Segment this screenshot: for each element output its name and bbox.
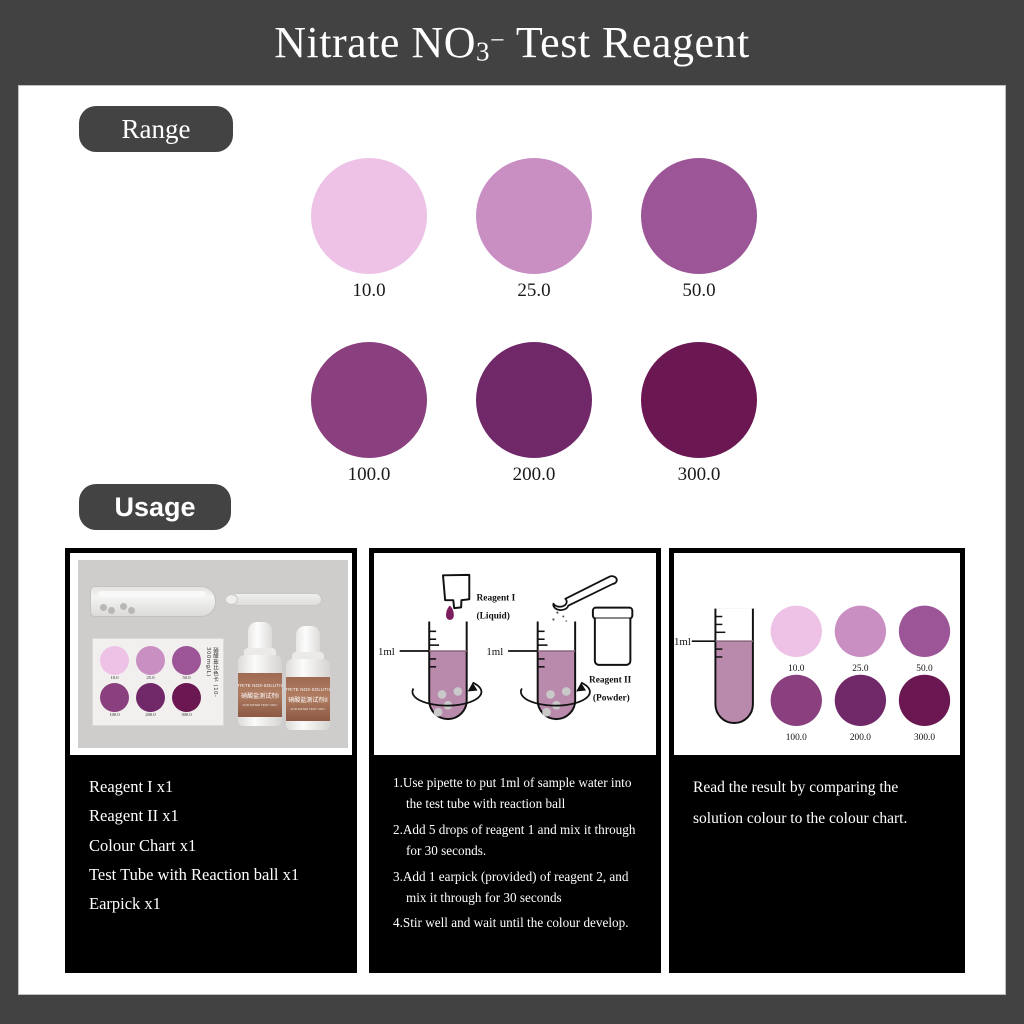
- bottle-label: NITRITE NO3-SOLUTION 硝酸盐测试剂II FOR WATER …: [286, 677, 330, 721]
- list-item: Test Tube with Reaction ball x1: [89, 860, 339, 889]
- title-bar: Nitrate NO3− Test Reagent: [0, 0, 1024, 85]
- reference-swatch-dot: [771, 675, 822, 726]
- card-swatch: 100.0: [99, 683, 130, 717]
- colour-swatch-label: 200.0: [513, 464, 556, 486]
- reading-diagram: 1ml 10.0 25.0 50.0: [674, 553, 960, 755]
- earpick-spoon-icon: [553, 576, 616, 610]
- reaction-ball: [100, 604, 107, 611]
- reagent-drop-icon: [446, 606, 454, 620]
- page-title-prefix: Nitrate NO: [274, 18, 476, 67]
- card-swatch-dot: [136, 646, 165, 675]
- card-swatch-dot: [100, 683, 129, 712]
- card-swatch-label: 300.0: [171, 712, 202, 717]
- reading-instruction: Read the result by comparing the solutio…: [671, 758, 963, 844]
- reaction-ball: [562, 687, 571, 696]
- poster-root: Nitrate NO3− Test Reagent Range 10.0 25.…: [0, 0, 1024, 1024]
- colour-swatch-dot: [311, 158, 427, 274]
- instruction-line: solution colour to the colour chart.: [693, 803, 947, 834]
- colour-swatch-label: 10.0: [352, 280, 385, 302]
- list-item: Reagent I x1: [89, 772, 339, 801]
- card-swatch-label: 25.0: [135, 675, 166, 680]
- colour-swatch-label: 300.0: [678, 464, 721, 486]
- reagent-2-name: Reagent II: [589, 676, 632, 686]
- reaction-ball: [108, 607, 115, 614]
- bottle-label-fineprint: FOR WATER TEST ONLY: [291, 707, 326, 711]
- reference-swatch-label: 200.0: [850, 733, 871, 743]
- bottle-label-fineprint: FOR WATER TEST ONLY: [243, 703, 278, 707]
- colour-swatch-dot: [641, 342, 757, 458]
- range-section-badge: Range: [79, 106, 233, 152]
- reference-swatch-dot: [899, 606, 950, 657]
- colour-chart-row-1: 10.0 25.0 50.0: [309, 158, 759, 302]
- usage-badge-label: Usage: [114, 494, 195, 521]
- reference-swatch-dot: [899, 675, 950, 726]
- volume-mark: 1ml: [674, 636, 691, 648]
- list-item: 4.Stir well and wait until the colour de…: [393, 912, 643, 933]
- range-badge-label: Range: [122, 116, 191, 143]
- page-title-superscript: −: [490, 26, 505, 55]
- bottle-label-chinese: 硝酸盐测试剂I: [241, 691, 279, 700]
- list-item: 2.Add 5 drops of reagent 1 and mix it th…: [393, 819, 643, 862]
- colour-swatch-label: 50.0: [682, 280, 715, 302]
- page-title-suffix: Test Reagent: [505, 18, 750, 67]
- card-swatch-grid: 10.0 25.0 50.0: [99, 646, 203, 717]
- colour-swatch-dot: [311, 342, 427, 458]
- card-swatch-dot: [172, 683, 201, 712]
- test-tube-sample: 1ml: [674, 609, 753, 723]
- earpick-spoon-head: [225, 594, 238, 605]
- reaction-ball: [120, 603, 127, 610]
- card-swatch-dot: [100, 646, 129, 675]
- reagent-1-name: Reagent I: [477, 594, 516, 604]
- bottle-label: NITRITE NO3-SOLUTION 硝酸盐测试剂I FOR WATER T…: [238, 673, 282, 717]
- card-swatch-dot: [172, 646, 201, 675]
- colour-chart-row-2: 100.0 200.0 300.0: [309, 342, 759, 486]
- bottle-label-english: NITRITE NO3-SOLUTION: [238, 683, 282, 688]
- earpick-photo: [230, 593, 322, 606]
- content-sheet: Range 10.0 25.0 50.0: [18, 85, 1006, 995]
- procedure-diagram-frame: Reagent I (Liquid): [371, 550, 659, 758]
- card-swatch-label: 50.0: [171, 675, 202, 680]
- reference-swatch-label: 100.0: [786, 733, 807, 743]
- colour-swatch: 50.0: [639, 158, 759, 302]
- reference-swatch-label: 10.0: [788, 664, 805, 674]
- bottle-body: NITRITE NO3-SOLUTION 硝酸盐测试剂I FOR WATER T…: [238, 655, 282, 726]
- colour-swatch-label: 25.0: [517, 280, 550, 302]
- reference-swatch: 200.0: [835, 675, 886, 743]
- instruction-line: Read the result by comparing the: [693, 772, 947, 803]
- card-caption-chinese: 硝酸盐比色卡 (10-300mg/L): [205, 647, 219, 725]
- bottle-body: NITRITE NO3-SOLUTION 硝酸盐测试剂II FOR WATER …: [286, 659, 330, 730]
- procedure-diagram: Reagent I (Liquid): [374, 553, 656, 755]
- colour-swatch: 25.0: [474, 158, 594, 302]
- page-title-subscript: 3: [476, 37, 490, 67]
- reaction-ball: [542, 708, 551, 717]
- kit-contents-list: Reagent I x1 Reagent II x1 Colour Chart …: [67, 758, 355, 929]
- dropper-bottle-icon: [439, 569, 476, 611]
- reading-diagram-frame: 1ml 10.0 25.0 50.0: [671, 550, 963, 758]
- procedure-steps: 1.Use pipette to put 1ml of sample water…: [371, 758, 659, 948]
- colour-chart: 10.0 25.0 50.0 100.0 200.0: [309, 158, 759, 486]
- test-tube-left: 1ml: [378, 621, 482, 719]
- page-title: Nitrate NO3− Test Reagent: [274, 17, 749, 68]
- card-swatch-label: 10.0: [99, 675, 130, 680]
- colour-swatch-dot: [476, 158, 592, 274]
- volume-mark-right: 1ml: [486, 646, 503, 658]
- panel-procedure: Reagent I (Liquid): [369, 548, 661, 973]
- reagent-bottle-1: NITRITE NO3-SOLUTION 硝酸盐测试剂I FOR WATER T…: [238, 622, 282, 726]
- reference-swatch-dot: [835, 675, 886, 726]
- reagent-1-type: (Liquid): [477, 611, 510, 622]
- reaction-ball: [128, 607, 135, 614]
- panel-reading-result: 1ml 10.0 25.0 50.0: [669, 548, 965, 973]
- colour-swatch-label: 100.0: [348, 464, 391, 486]
- list-item: Reagent II x1: [89, 801, 339, 830]
- card-swatch-dot: [136, 683, 165, 712]
- reference-swatch: 100.0: [771, 675, 822, 743]
- colour-swatch: 300.0: [639, 342, 759, 486]
- card-swatch: 10.0: [99, 646, 130, 680]
- card-swatch: 25.0: [135, 646, 166, 680]
- reference-swatch-dot: [771, 606, 822, 657]
- bottle-label-english: NITRITE NO3-SOLUTION: [286, 687, 330, 692]
- reference-swatch-label: 25.0: [852, 664, 869, 674]
- colour-swatch-dot: [476, 342, 592, 458]
- reference-swatch: 50.0: [899, 606, 950, 674]
- reagent-bottle-2: NITRITE NO3-SOLUTION 硝酸盐测试剂II FOR WATER …: [286, 626, 330, 730]
- card-swatch-label: 100.0: [99, 712, 130, 717]
- volume-mark-left: 1ml: [378, 646, 395, 658]
- reaction-ball: [453, 687, 462, 696]
- reference-swatch-label: 50.0: [916, 664, 933, 674]
- reference-swatch-label: 300.0: [914, 733, 935, 743]
- reaction-ball: [546, 690, 555, 699]
- card-swatch-label: 200.0: [135, 712, 166, 717]
- reagent-2-type: (Powder): [593, 692, 630, 703]
- reference-swatch-dot: [835, 606, 886, 657]
- reaction-ball: [438, 690, 447, 699]
- colour-swatch-dot: [641, 158, 757, 274]
- usage-section-badge: Usage: [79, 484, 231, 530]
- list-item: 1.Use pipette to put 1ml of sample water…: [393, 772, 643, 815]
- list-item: Colour Chart x1: [89, 831, 339, 860]
- bottle-label-chinese: 硝酸盐测试剂II: [288, 695, 328, 704]
- kit-photo-frame: 10.0 25.0 50.0: [67, 550, 355, 758]
- kit-product-photo: 10.0 25.0 50.0: [78, 560, 348, 748]
- colour-chart-card-photo: 10.0 25.0 50.0: [92, 638, 224, 726]
- test-tube-right: 1ml: [486, 621, 590, 719]
- colour-swatch: 100.0: [309, 342, 429, 486]
- panel-kit-contents: 10.0 25.0 50.0: [65, 548, 357, 973]
- reaction-ball: [434, 708, 443, 717]
- list-item: Earpick x1: [89, 889, 339, 918]
- reference-swatch: 25.0: [835, 606, 886, 674]
- card-swatch: 50.0: [171, 646, 202, 680]
- reagent-2-jar-icon: [593, 608, 632, 665]
- colour-swatch: 200.0: [474, 342, 594, 486]
- card-swatch: 200.0: [135, 683, 166, 717]
- card-swatch: 300.0: [171, 683, 202, 717]
- list-item: 3.Add 1 earpick (provided) of reagent 2,…: [393, 866, 643, 909]
- reference-swatch: 10.0: [771, 606, 822, 674]
- reference-swatch: 300.0: [899, 675, 950, 743]
- colour-swatch: 10.0: [309, 158, 429, 302]
- test-tube-highlight: [98, 591, 206, 597]
